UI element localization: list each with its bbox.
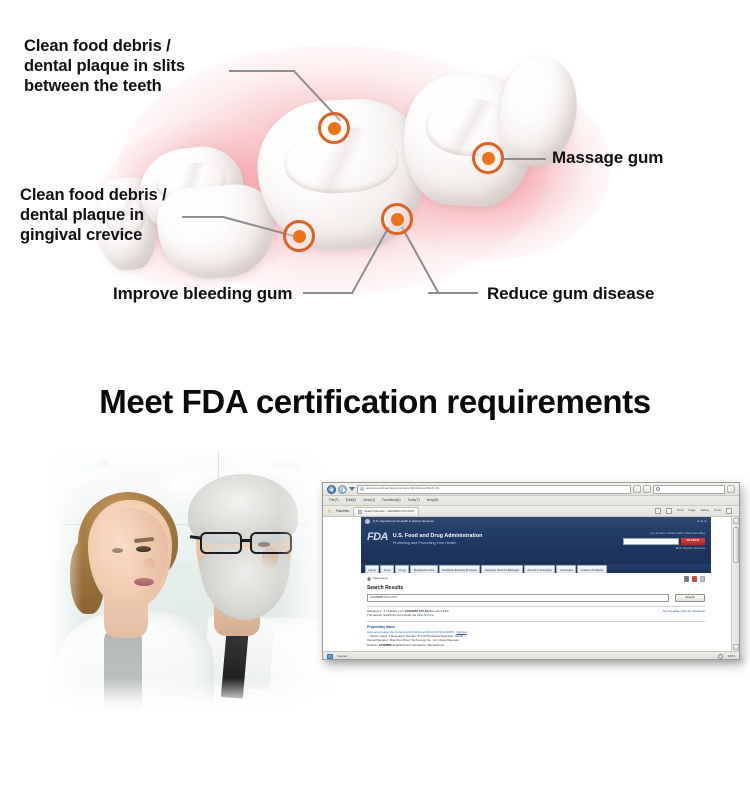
page-tools [684,576,706,582]
hhs-seal-icon [365,519,370,524]
results-meta: Showing 1 - 1 of about 1 for 10029850 97… [361,607,711,618]
hhs-banner-text: U.S. Department of Health & Human Servic… [373,520,434,524]
browser-favorites-bar: Favorites Search Results - 10029850 972-… [323,506,739,517]
page-icon [360,487,364,491]
search-icon [656,487,660,491]
nav-tab-cosmetics[interactable]: Cosmetics [556,565,576,573]
result-number-post: Establishment Operations: Manufacturer [392,643,445,647]
label-clean-slits: Clean food debris / dental plaque in sli… [24,36,185,96]
search-button[interactable]: Search [675,594,705,602]
nav-tab-drugs[interactable]: Drugs [395,565,409,573]
marker-dot [391,213,404,226]
hhs-banner: U.S. Department of Health & Human Servic… [361,517,711,526]
address-bar[interactable]: www.accessdata.fda.gov/scripts/cdrh/cfdo… [357,485,631,494]
email-icon[interactable] [700,576,706,582]
fda-page-content: U.S. Department of Health & Human Servic… [361,517,711,651]
home-icon [367,577,371,581]
toolbar-page[interactable]: Page [688,509,695,513]
nav-tab-home[interactable]: Home [365,565,379,573]
fda-logo: FDA [367,531,388,564]
search-results-form: 10029850 972-6473 Search [361,591,711,602]
browser-viewport: U.S. Department of Health & Human Servic… [323,517,739,651]
browser-search-box[interactable] [653,485,725,494]
marker-massage-gum[interactable] [472,142,504,174]
menu-item-file[interactable]: File(F) [329,498,339,502]
marker-bleeding-and-disease[interactable] [381,203,413,235]
help-icon[interactable] [726,508,732,514]
result-number-label: Number: [367,643,379,647]
favorites-star-icon[interactable] [327,509,332,514]
zoom-icon[interactable] [718,654,723,659]
status-zone-label: Internet [337,655,347,659]
nav-tab-medical-devices[interactable]: Medical Devices [410,565,437,573]
network-icon [327,654,333,659]
fda-certification-heading: Meet FDA certification requirements [0,383,750,421]
photo-fade-left [48,452,82,714]
nav-tab-animal[interactable]: Animal & Veterinary [524,565,556,573]
fda-masthead-right: A to Z Index | Follow FDA | FDA Voice Bl… [623,531,705,564]
fda-archive-link[interactable]: FDA Archive [417,613,434,617]
infographic-page: Clean food debris / dental plaque in sli… [0,0,750,791]
browser-status-bar: Internet 100% [323,651,739,660]
woman-eye [136,546,151,552]
glasses-lens-left [200,532,242,554]
archive-note-line: The search results do not include the FD… [367,614,657,618]
omitted-results-note: In order to show you the most relevant r… [361,647,711,651]
nav-tab-vaccines[interactable]: Vaccines, Blood & Biologics [481,565,522,573]
result-number-value: 10029850 [379,643,392,647]
lead-line-massage [502,158,546,160]
marker-dot [482,152,495,165]
fda-agency-title: U.S. Food and Drug Administration [393,533,483,540]
woman-eye-far [112,548,123,553]
toolbar-safety[interactable]: Safety [700,509,709,513]
breadcrumb: FDA Home [361,573,711,582]
woman-lips [134,578,154,586]
photo-fade-bottom [48,678,340,714]
fda-masthead: FDA U.S. Food and Drug Administration Pr… [361,526,711,564]
cached-link[interactable]: Cached [457,630,467,634]
fda-web-page: U.S. Department of Health & Human Servic… [323,517,731,651]
lead-line-reduce-d [401,226,439,292]
home-icon[interactable] [655,508,661,514]
nav-tab-tobacco[interactable]: Tobacco Products [577,565,606,573]
vertical-scrollbar[interactable] [731,517,739,651]
fda-search-button[interactable]: SEARCH [681,538,705,545]
status-right: 100% [718,654,735,659]
woman-face-shading [92,508,168,604]
browser-window: www.accessdata.fda.gov/scripts/cdrh/cfdo… [322,482,740,660]
label-clean-crevice: Clean food debris / dental plaque in gin… [20,185,167,245]
search-provider-button[interactable] [727,485,735,493]
lead-line-bleeding-h [303,292,353,294]
share-icon[interactable] [692,576,698,582]
scroll-down-arrow[interactable] [733,644,739,650]
forward-arrow-icon[interactable] [338,485,347,494]
fda-photo-section: www.accessdata.fda.gov/scripts/cdrh/cfdo… [0,452,750,717]
toolbar-print[interactable]: Print [677,509,683,513]
label-line-1: Clean food debris / [20,185,167,205]
label-line-2: dental plaque in [20,205,167,225]
search-input[interactable]: 10029850 972-6473 [367,594,669,602]
lead-line-slits-h [229,70,295,72]
marker-dot [293,230,306,243]
browser-nav-bar: www.accessdata.fda.gov/scripts/cdrh/cfdo… [323,483,739,496]
lab-scientists-photo [48,452,340,714]
fda-search-row: SEARCH [623,538,705,545]
sort-links[interactable]: Sort by date | Sort by relevance [663,610,705,618]
history-dropdown-icon[interactable] [349,487,355,492]
stop-button[interactable] [643,485,651,493]
favorites-label[interactable]: Favorites [336,509,349,513]
browser-tab[interactable]: Search Results - 10029850 972-6473 [353,507,419,516]
search-results-title: Search Results [361,582,711,591]
menu-item-edit[interactable]: Edit(E) [346,498,356,502]
refresh-button[interactable] [633,485,641,493]
archive-note-pre: The search results do not include the [367,613,417,617]
teeth-diagram-section: Clean food debris / dental plaque in sli… [0,0,750,340]
nav-tab-food[interactable]: Food [380,565,393,573]
fda-search-input[interactable] [623,538,679,545]
address-bar-url: www.accessdata.fda.gov/scripts/cdrh/cfdo… [366,487,440,491]
marker-gingival-crevice[interactable] [283,220,315,252]
scrollbar-thumb[interactable] [733,527,739,563]
nav-tab-radiation[interactable]: Radiation-Emitting Products [439,565,481,573]
browser-toolbar-right: Print Page Safety Tools [655,508,735,514]
fda-primary-nav: Home Food Drugs Medical Devices Radiatio… [361,564,711,573]
search-input-value: 10029850 972-6473 [370,596,397,600]
lead-line-crevice [182,216,224,218]
fda-top-links[interactable]: A to Z Index | Follow FDA | FDA Voice Bl… [623,532,705,536]
tab-favicon [358,510,362,514]
scroll-up-arrow[interactable] [733,518,739,524]
label-line-3: gingival crevice [20,225,167,245]
back-arrow-icon[interactable] [327,485,336,494]
browser-menu-bar: File(F) Edit(E) View(V) Favorites(A) Too… [323,496,739,506]
menu-item-help[interactable]: Help(H) [427,498,439,502]
archive-note-post: . [434,613,435,617]
woman-nose [144,558,156,572]
print-icon[interactable] [684,576,690,582]
zoom-level[interactable]: 100% [727,655,735,659]
breadcrumb-fda-home[interactable]: FDA Home [373,577,388,581]
toolbar-tools[interactable]: Tools [714,509,721,513]
menu-item-tools[interactable]: Tools(T) [407,498,419,502]
menu-item-view[interactable]: View(V) [363,498,375,502]
result-url-text[interactable]: www.accessdata.fda.gov/scripts/cdrh/cfdo… [367,630,454,634]
search-result-item: Proprietary Name www.accessdata.fda.gov/… [361,622,711,647]
marker-slits[interactable] [318,112,350,144]
results-count: Showing 1 - 1 of about 1 for 10029850 97… [367,610,657,618]
label-line-3: between the teeth [24,76,185,96]
marker-dot [328,122,341,135]
label-reduce-gum-disease: Reduce gum disease [487,284,654,304]
text-size-control[interactable]: A A A [697,520,707,524]
lead-line-reduce-h [428,292,478,294]
label-massage-gum: Massage gum [552,148,663,168]
most-popular-searches-link[interactable]: Most Popular Searches [623,547,705,550]
label-improve-bleeding-gum: Improve bleeding gum [113,284,292,304]
fda-tagline: Protecting and Promoting Your Health [393,541,483,546]
label-line-1: Clean food debris / [24,36,185,56]
fda-titles: U.S. Food and Drug Administration Protec… [393,531,483,564]
menu-item-favorites[interactable]: Favorites(A) [382,498,400,502]
tooth-molar-left-body [155,182,277,282]
browser-tab-label: Search Results - 10029850 972-6473 [364,510,414,514]
feeds-icon[interactable] [666,508,672,514]
label-line-2: dental plaque in slits [24,56,185,76]
